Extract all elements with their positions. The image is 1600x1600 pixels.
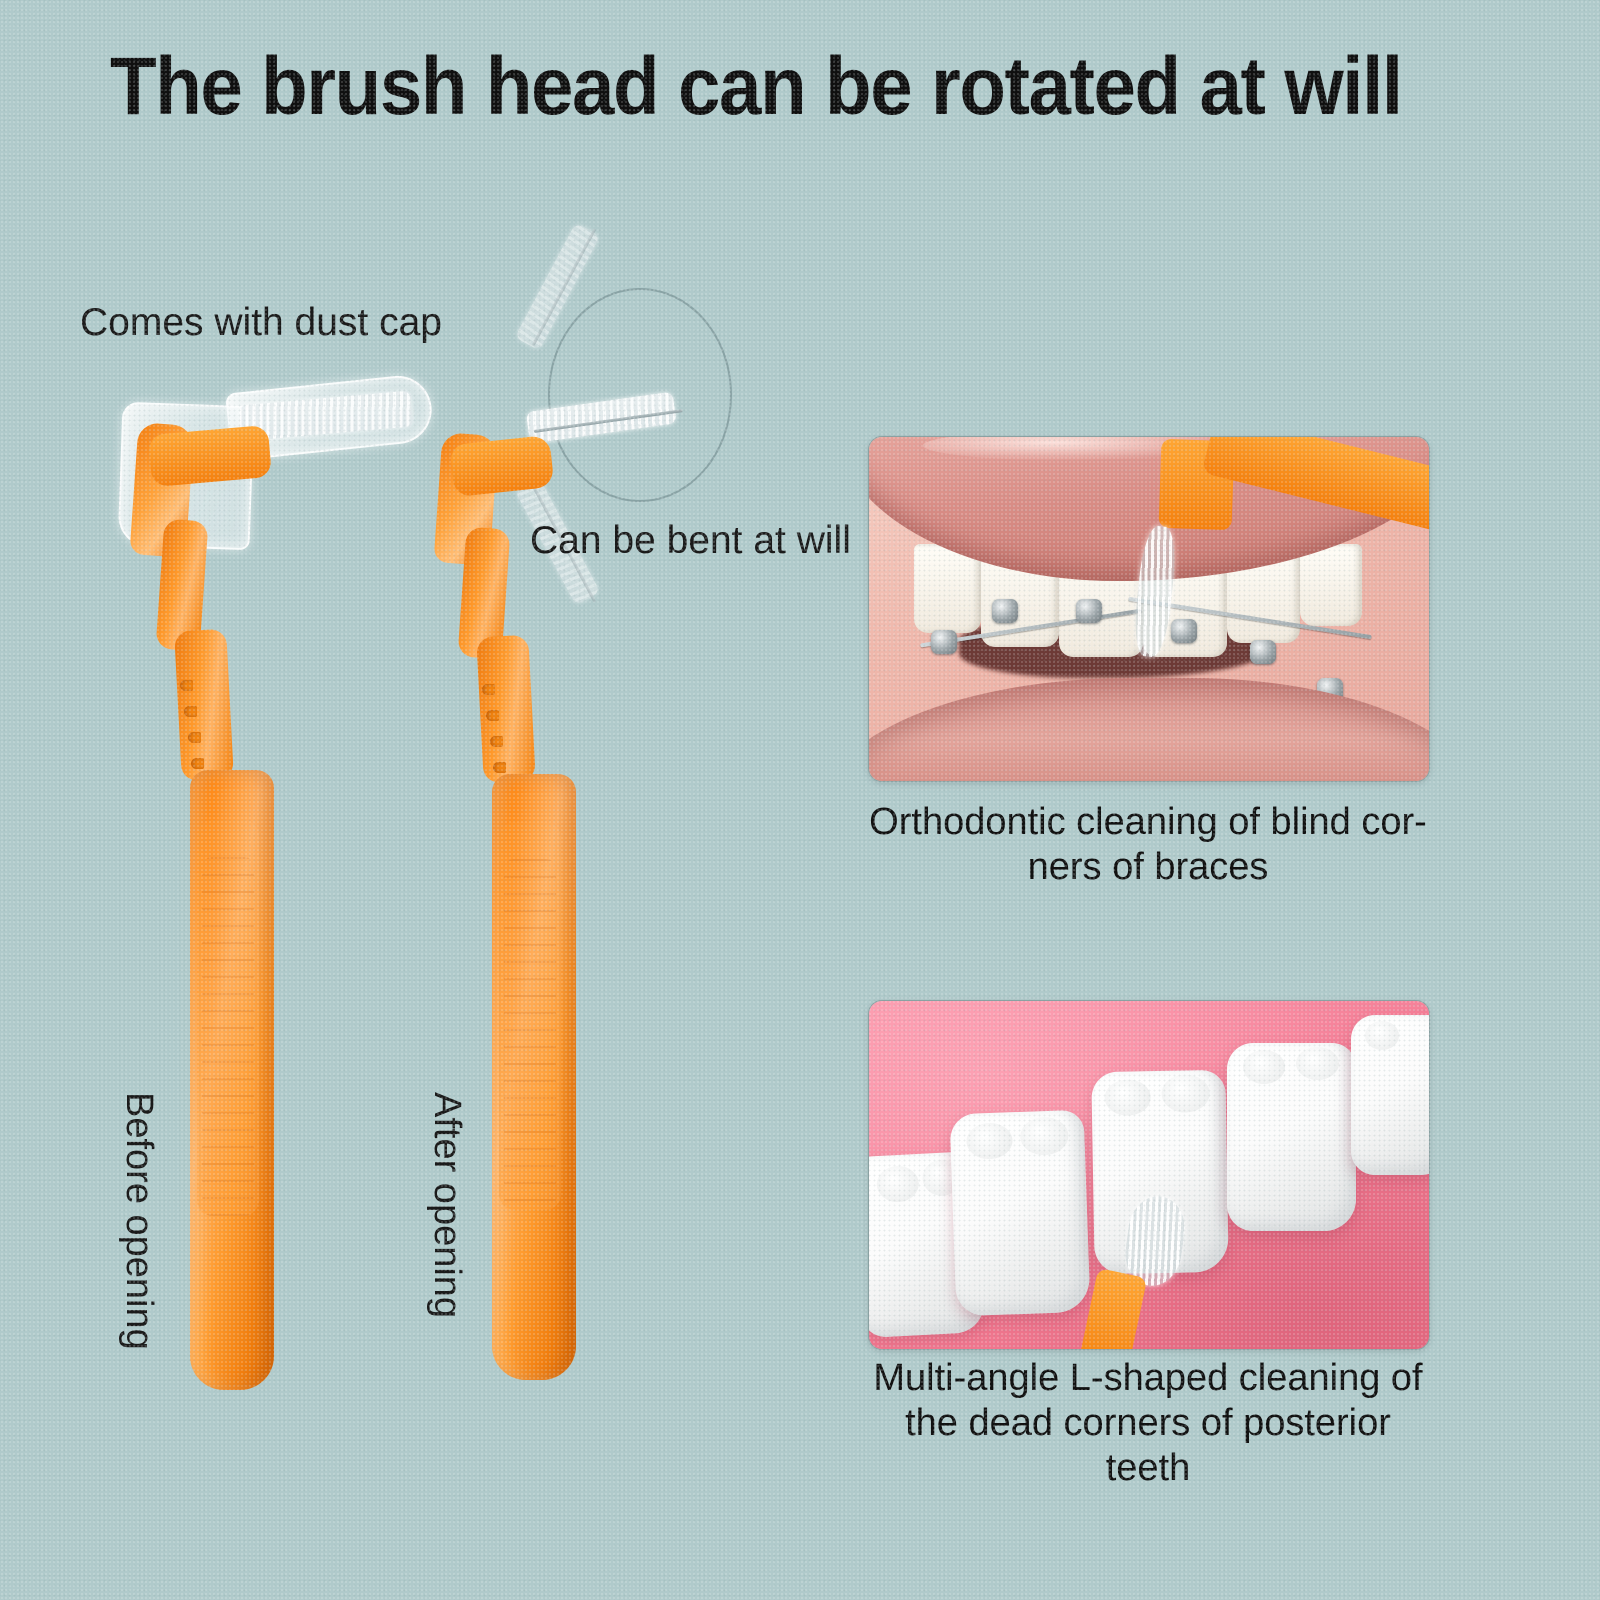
brush-state-label-after: After opening: [425, 1092, 468, 1318]
cusp: [876, 1165, 920, 1203]
caption-line: teeth: [848, 1446, 1448, 1491]
braces-caption: Orthodontic cleaning of blind cor- ners …: [848, 800, 1448, 890]
bracket: [992, 599, 1018, 623]
cusp: [966, 1123, 1013, 1161]
bent-annotation: Can be bent at will: [530, 518, 851, 564]
molar: [950, 1110, 1091, 1316]
caption-line: ners of braces: [848, 845, 1448, 890]
lower-lip: [868, 678, 1430, 782]
molars-photo: [868, 1000, 1430, 1350]
cusp: [1020, 1117, 1070, 1157]
caption-line: Multi-angle L-shaped cleaning of: [848, 1356, 1448, 1401]
gum-illustration: [869, 1001, 1429, 1349]
brush-without-cap: After opening: [0, 0, 900, 1440]
mouth-illustration: [869, 437, 1429, 781]
caption-line: the dead corners of posterior: [848, 1401, 1448, 1446]
braces-photo: [868, 436, 1430, 782]
bracket: [1171, 619, 1197, 643]
brush-neck-lower: [476, 635, 536, 784]
grip-notch: [482, 684, 495, 695]
tooth: [1300, 544, 1362, 627]
grip-notch: [490, 736, 503, 747]
molar: [1227, 1043, 1356, 1231]
molar: [1351, 1015, 1430, 1175]
grip-notch: [486, 710, 499, 721]
dust-cap-annotation: Comes with dust cap: [80, 300, 442, 346]
brush-arm: [450, 435, 555, 497]
cusp: [1365, 1021, 1399, 1050]
cusp: [1296, 1047, 1340, 1081]
cusp: [1243, 1050, 1286, 1084]
bracket: [1250, 640, 1276, 664]
cusp: [1161, 1074, 1210, 1113]
molars-caption: Multi-angle L-shaped cleaning of the dea…: [848, 1356, 1448, 1490]
bracket: [931, 630, 957, 654]
grip-ridges: [504, 859, 556, 1210]
brush-handle: [492, 774, 576, 1380]
caption-line: Orthodontic cleaning of blind cor-: [848, 800, 1448, 845]
cusp: [1105, 1079, 1151, 1116]
grip-notch: [493, 762, 506, 773]
bracket: [1076, 599, 1102, 623]
